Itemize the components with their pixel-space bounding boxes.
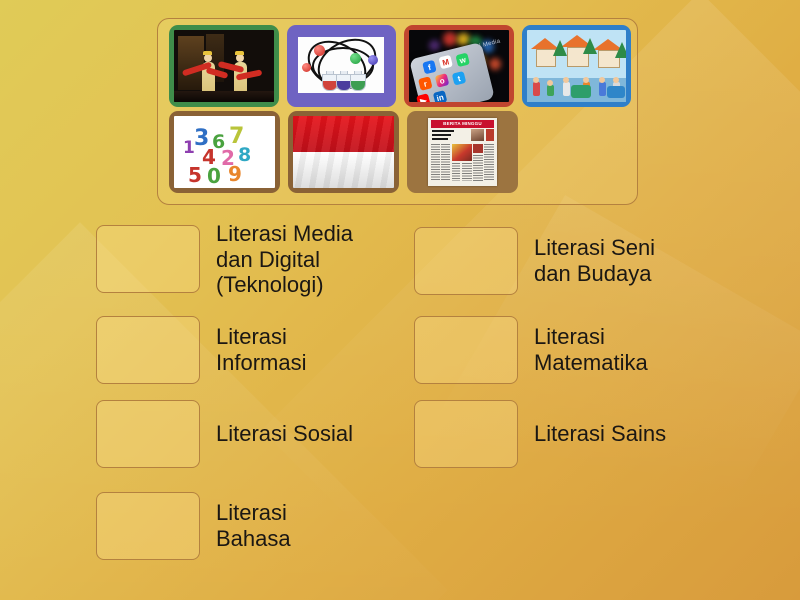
newspaper-masthead: BERITA MINGGU bbox=[431, 120, 494, 127]
tile-numbers[interactable]: 1 3 6 7 4 2 8 5 0 9 bbox=[169, 111, 280, 193]
activity-stage: Social Media f M w r o t ▶ in bbox=[0, 0, 800, 600]
answer-label-sains: Literasi Sains bbox=[534, 421, 666, 447]
dropzone-bahasa[interactable] bbox=[96, 492, 200, 560]
answer-label-sosial: Literasi Sosial bbox=[216, 421, 353, 447]
tile-science[interactable] bbox=[287, 25, 397, 107]
tile-tray: Social Media f M w r o t ▶ in bbox=[157, 18, 638, 205]
answer-label-media-digital: Literasi Media dan Digital (Teknologi) bbox=[216, 221, 353, 298]
tile-social-media[interactable]: Social Media f M w r o t ▶ in bbox=[404, 25, 514, 107]
dropzone-informasi[interactable] bbox=[96, 316, 200, 384]
answer-label-bahasa: Literasi Bahasa bbox=[216, 500, 291, 551]
answer-label-informasi: Literasi Informasi bbox=[216, 324, 306, 375]
dropzone-sosial[interactable] bbox=[96, 400, 200, 468]
answer-row-sosial: Literasi Sosial bbox=[96, 400, 353, 468]
indonesia-flag-photo bbox=[293, 116, 394, 188]
answer-label-matematika: Literasi Matematika bbox=[534, 324, 648, 375]
traditional-dance-photo bbox=[174, 30, 274, 102]
tile-newspaper[interactable]: BERITA MINGGU bbox=[407, 111, 518, 193]
tile-community[interactable] bbox=[522, 25, 632, 107]
answer-label-seni-budaya: Literasi Seni dan Budaya bbox=[534, 235, 655, 286]
answer-row-matematika: Literasi Matematika bbox=[414, 316, 648, 384]
dropzone-matematika[interactable] bbox=[414, 316, 518, 384]
colored-numbers-photo: 1 3 6 7 4 2 8 5 0 9 bbox=[174, 116, 275, 188]
answer-row-sains: Literasi Sains bbox=[414, 400, 666, 468]
dropzone-media-digital[interactable] bbox=[96, 225, 200, 293]
answer-row-informasi: Literasi Informasi bbox=[96, 316, 306, 384]
newspaper-photo: BERITA MINGGU bbox=[412, 116, 513, 188]
dropzone-sains[interactable] bbox=[414, 400, 518, 468]
dropzone-seni-budaya[interactable] bbox=[414, 227, 518, 295]
tile-dancers[interactable] bbox=[169, 25, 279, 107]
tile-flag[interactable] bbox=[288, 111, 399, 193]
community-illustration bbox=[527, 30, 627, 102]
atom-and-flasks-photo bbox=[292, 30, 392, 102]
answer-row-media-digital: Literasi Media dan Digital (Teknologi) bbox=[96, 221, 353, 298]
answer-row-seni-budaya: Literasi Seni dan Budaya bbox=[414, 227, 655, 295]
smartphone-social-apps-photo: Social Media f M w r o t ▶ in bbox=[409, 30, 509, 102]
answer-row-bahasa: Literasi Bahasa bbox=[96, 492, 291, 560]
